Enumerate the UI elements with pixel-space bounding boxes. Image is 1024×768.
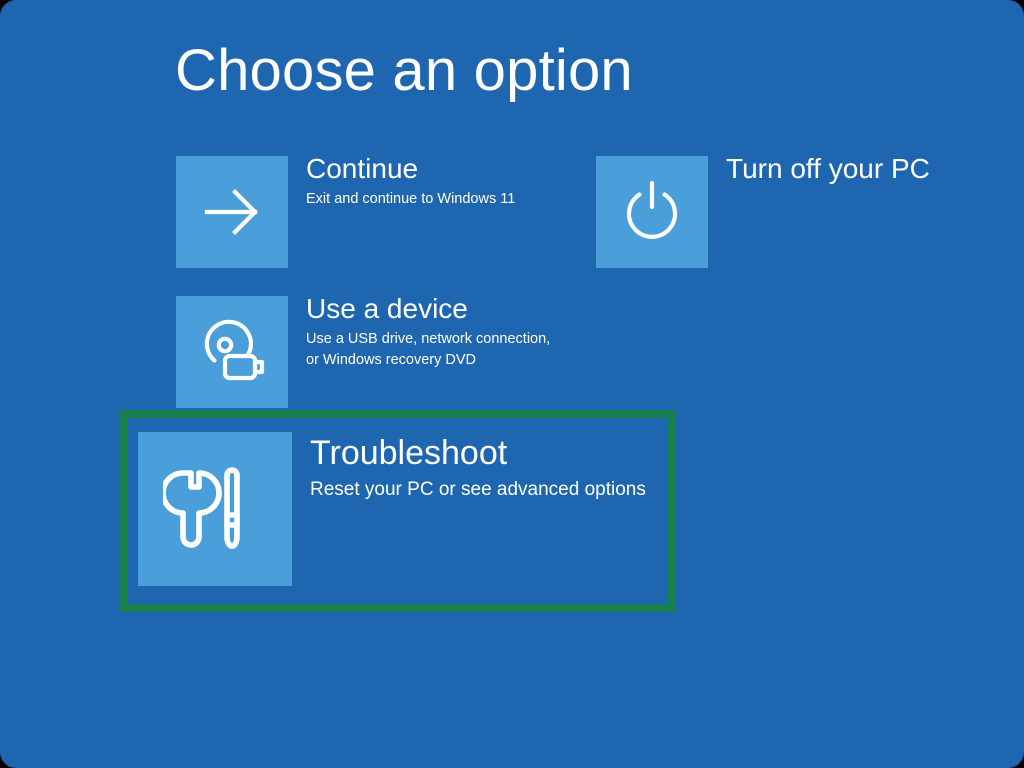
continue-title: Continue: [306, 152, 515, 186]
arrow-right-icon: [195, 175, 269, 249]
troubleshoot-subtitle: Reset your PC or see advanced options: [310, 477, 646, 503]
option-continue[interactable]: Continue Exit and continue to Windows 11: [176, 156, 515, 268]
option-use-a-device[interactable]: Use a device Use a USB drive, network co…: [176, 296, 550, 408]
turn-off-title: Turn off your PC: [726, 152, 930, 186]
option-turn-off-your-pc[interactable]: Turn off your PC: [596, 156, 930, 268]
troubleshoot-tile[interactable]: [138, 432, 292, 586]
continue-tile[interactable]: [176, 156, 288, 268]
use-a-device-subtitle: Use a USB drive, network connection, or …: [306, 329, 550, 371]
troubleshoot-text: Troubleshoot Reset your PC or see advanc…: [310, 432, 646, 503]
disc-usb-icon: [192, 312, 272, 392]
option-troubleshoot[interactable]: Troubleshoot Reset your PC or see advanc…: [138, 432, 646, 586]
wrench-screwdriver-icon: [163, 457, 267, 561]
use-a-device-subtitle-line2: or Windows recovery DVD: [306, 350, 550, 371]
use-a-device-tile[interactable]: [176, 296, 288, 408]
turn-off-tile[interactable]: [596, 156, 708, 268]
recovery-screen: Choose an option Continue Exit and conti…: [0, 0, 1024, 768]
use-a-device-subtitle-line1: Use a USB drive, network connection,: [306, 329, 550, 350]
use-a-device-text: Use a device Use a USB drive, network co…: [306, 292, 550, 371]
continue-subtitle-line1: Exit and continue to Windows 11: [306, 189, 515, 209]
continue-text: Continue Exit and continue to Windows 11: [306, 152, 515, 209]
power-icon: [614, 174, 690, 250]
troubleshoot-subtitle-line1: Reset your PC or see advanced options: [310, 477, 646, 503]
use-a-device-title: Use a device: [306, 292, 550, 326]
troubleshoot-title: Troubleshoot: [310, 432, 646, 474]
page-title: Choose an option: [175, 42, 633, 100]
continue-subtitle: Exit and continue to Windows 11: [306, 189, 515, 209]
turn-off-text: Turn off your PC: [726, 152, 930, 186]
